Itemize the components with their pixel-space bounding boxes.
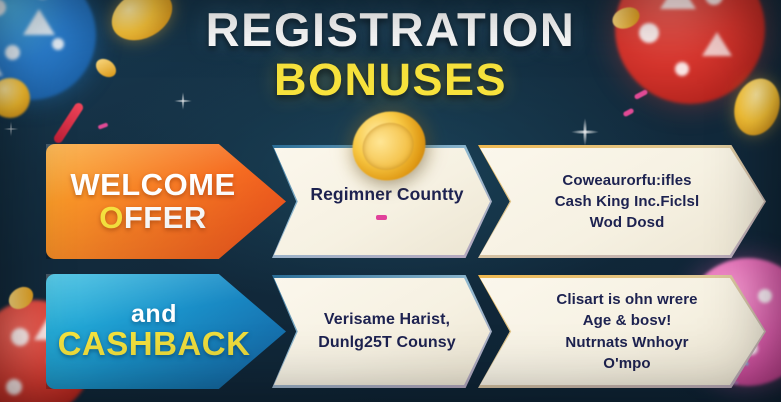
title-line-1: REGISTRATION [0, 6, 781, 54]
middle-panel-line: Verisame Harist, [318, 309, 456, 331]
middle-panel-welcome: Regimner Countty [274, 148, 490, 255]
badge-line-2: CASHBACK [58, 327, 251, 362]
right-panel-line: Coweaurorfu:ifles [555, 170, 700, 191]
middle-panel-cashback: Verisame Harist, Dunlg25T Counsy [274, 278, 490, 385]
page-title: REGISTRATION BONUSES [0, 6, 781, 103]
badge-line-1: and [131, 301, 177, 328]
promo-banner: REGISTRATION BONUSES Coweaurorfu:ifles C… [0, 0, 781, 402]
badge-rest-letters: FFER [124, 200, 207, 235]
right-panel-line: Wod Dosd [555, 212, 700, 233]
right-panel-line: Clisart is ohn wrere [556, 289, 697, 310]
right-panel-line: Age & bosv! [556, 310, 697, 331]
red-stick-icon [52, 101, 85, 144]
offer-row-welcome: Coweaurorfu:ifles Cash King Inc.Ficlsl W… [0, 144, 781, 259]
cashback-badge[interactable]: and CASHBACK [46, 274, 286, 389]
welcome-offer-badge[interactable]: WELCOME OFFER [46, 144, 286, 259]
pink-dash-icon [376, 215, 387, 220]
right-panel-welcome: Coweaurorfu:ifles Cash King Inc.Ficlsl W… [480, 148, 764, 255]
right-panel-line: O'mpo [556, 353, 697, 374]
pink-dash-icon [622, 108, 634, 118]
badge-line-2: OFFER [99, 202, 207, 235]
middle-panel-line: Dunlg25T Counsy [318, 332, 456, 354]
sparkle-icon [0, 118, 22, 140]
pink-dash-icon [98, 122, 109, 129]
badge-accent-letter: O [99, 200, 124, 235]
badge-line-1: WELCOME [70, 169, 235, 202]
right-panel-cashback: Clisart is ohn wrere Age & bosv! Nutrnat… [480, 278, 764, 385]
right-panel-line: Cash King Inc.Ficlsl [555, 191, 700, 212]
middle-panel-line: Regimner Countty [284, 183, 479, 205]
right-panel-line: Nutrnats Wnhoyr [556, 332, 697, 353]
offer-row-cashback: Clisart is ohn wrere Age & bosv! Nutrnat… [0, 274, 781, 389]
title-line-2: BONUSES [0, 56, 781, 103]
